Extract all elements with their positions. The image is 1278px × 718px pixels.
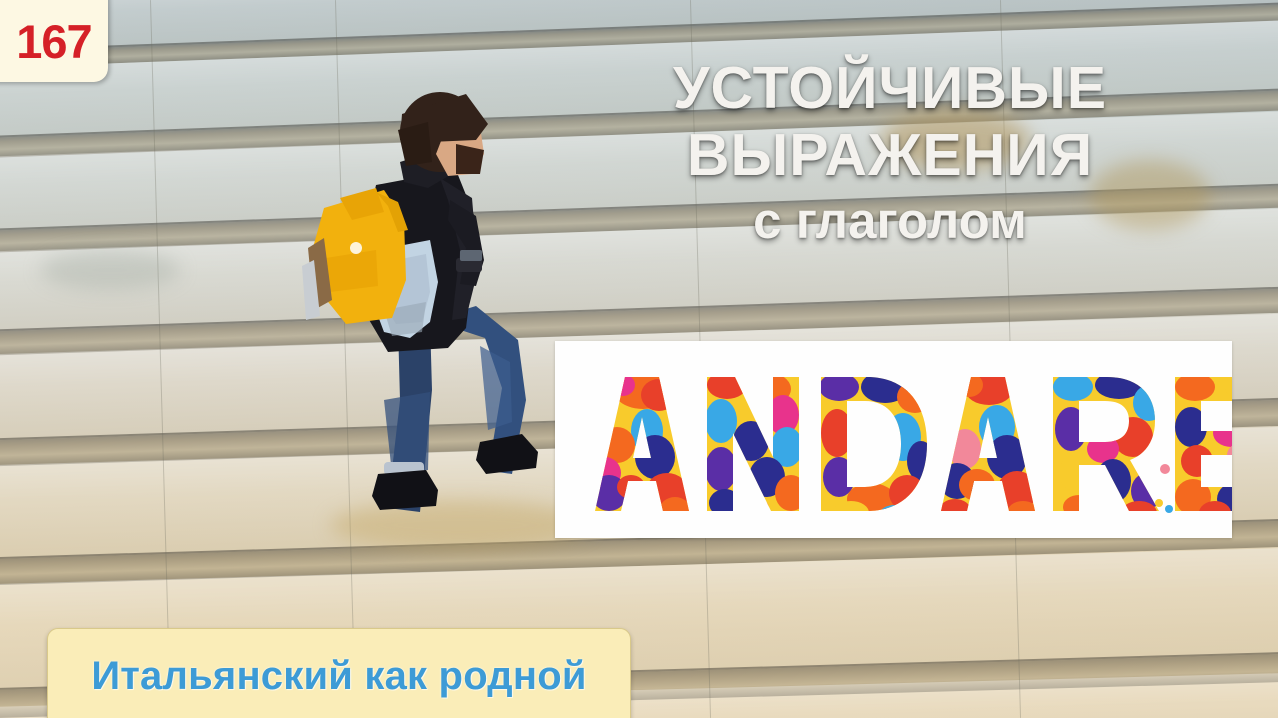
title-line-1: УСТОЙЧИВЫЕ <box>560 60 1220 117</box>
episode-number-badge: 167 <box>0 0 108 82</box>
accent-dot <box>1165 505 1173 513</box>
channel-name: Итальянский как родной <box>91 654 586 699</box>
stone-stain <box>40 250 180 290</box>
thumbnail-canvas: 167 УСТОЙЧИВЫЕ ВЫРАЖЕНИЯ с глаголом <box>0 0 1278 718</box>
andare-word-panel <box>555 341 1232 538</box>
episode-number: 167 <box>16 18 91 65</box>
title-line-2: ВЫРАЖЕНИЯ <box>560 127 1220 184</box>
andare-wordmark <box>555 341 1232 538</box>
accent-dot <box>1155 499 1163 507</box>
accent-dot <box>1160 464 1170 474</box>
page-title: УСТОЙЧИВЫЕ ВЫРАЖЕНИЯ с глаголом <box>560 60 1220 246</box>
title-line-3: с глаголом <box>560 195 1220 246</box>
person-climbing-stairs <box>280 70 545 525</box>
channel-banner: Итальянский как родной <box>47 628 631 718</box>
